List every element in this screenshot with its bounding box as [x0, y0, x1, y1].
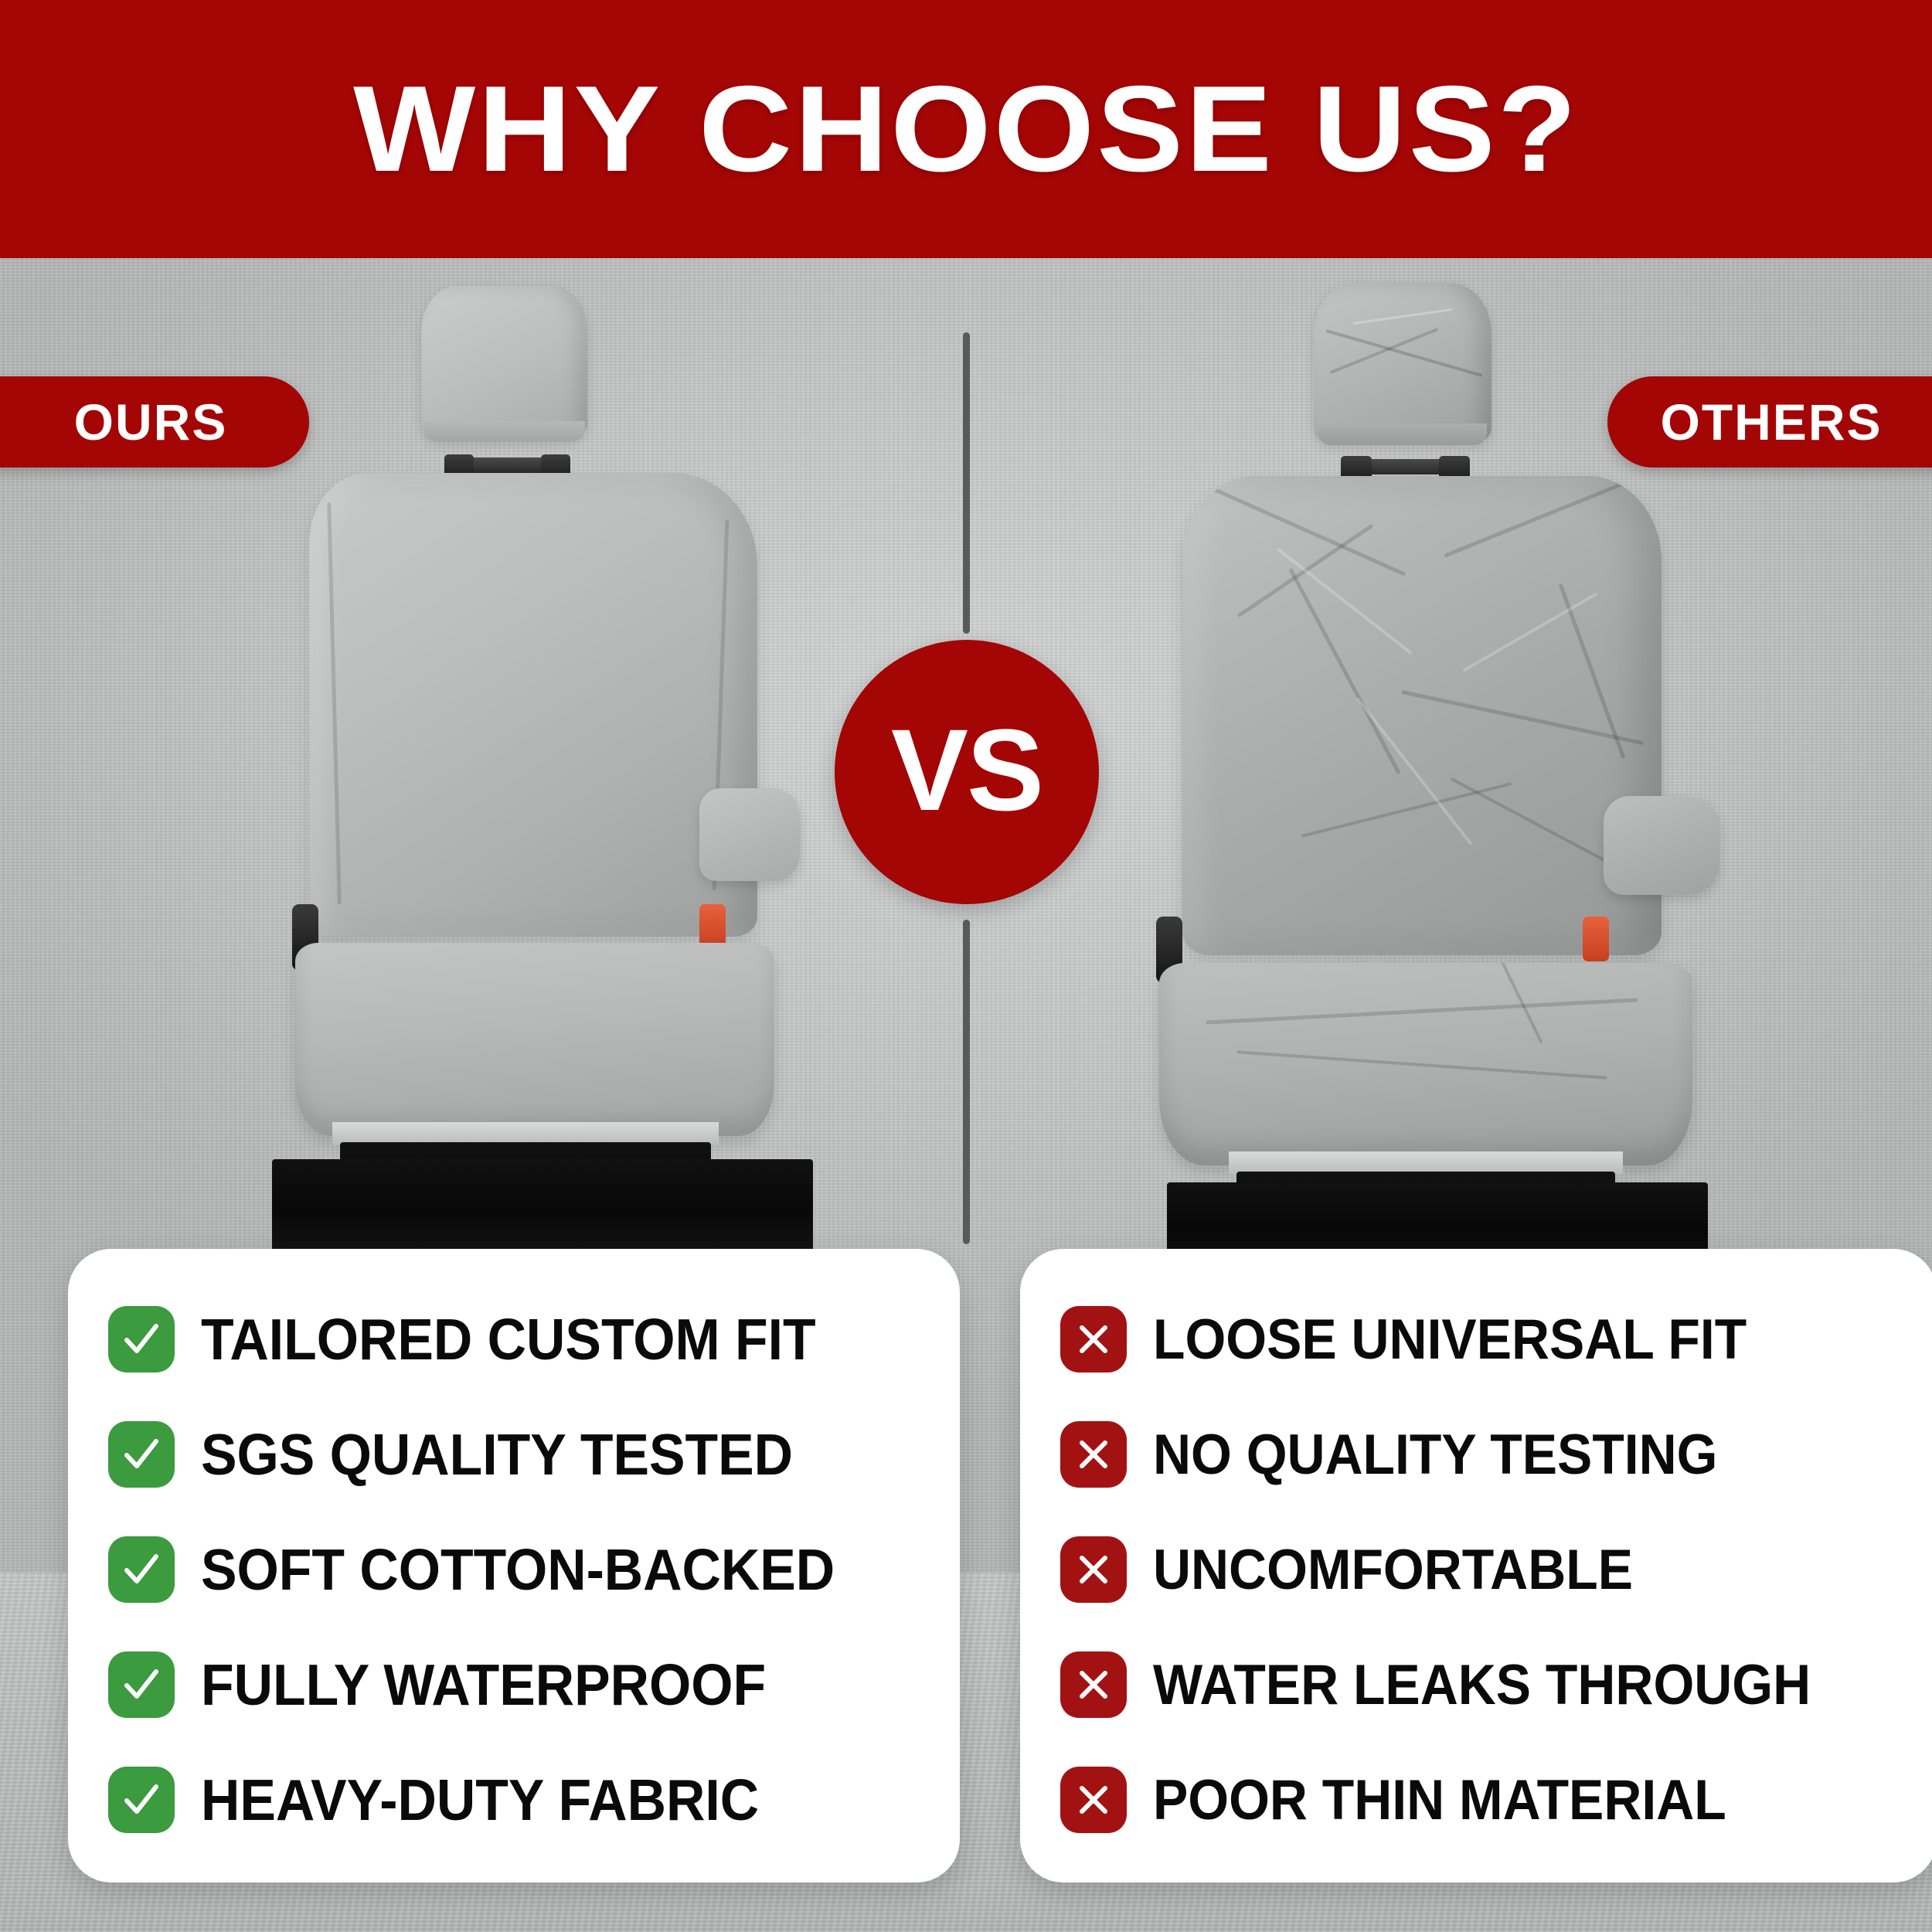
check-icon: [108, 1306, 175, 1372]
seat-wrinkle-highlight: [1356, 697, 1473, 845]
infographic-canvas: WHY CHOOSE US?: [0, 0, 1932, 1932]
divider-line-bottom: [963, 920, 970, 1244]
check-icon: [108, 1767, 175, 1833]
seat-belt-clip-others: [1583, 917, 1609, 961]
check-icon: [108, 1421, 175, 1488]
feature-card-others: LOOSE UNIVERSAL FIT NO QUALITY TESTING U…: [1020, 1249, 1932, 1883]
seat-wrinkle: [1301, 782, 1512, 838]
feature-label: POOR THIN MATERIAL: [1153, 1772, 1726, 1828]
feature-label: TAILORED CUSTOM FIT: [201, 1311, 816, 1369]
feature-row-others-1: LOOSE UNIVERSAL FIT: [1060, 1292, 1906, 1386]
badge-ours: OURS: [0, 376, 309, 468]
seat-wrinkle: [1236, 1050, 1607, 1079]
check-icon: [108, 1536, 175, 1603]
cross-icon: [1060, 1651, 1127, 1718]
seat-headrest-ours: [421, 286, 587, 440]
feature-row-others-2: NO QUALITY TESTING: [1060, 1407, 1906, 1502]
seat-headrest-band-ours: [423, 421, 585, 441]
seat-cushion-ours: [295, 943, 774, 1136]
feature-label: SOFT COTTON-BACKED: [201, 1541, 835, 1599]
feature-row-others-3: UNCOMFORTABLE: [1060, 1522, 1906, 1617]
divider-line-top: [963, 332, 970, 634]
seat-armrest-others: [1604, 796, 1719, 895]
vs-badge: VS: [835, 640, 1099, 904]
feature-row-ours-3: SOFT COTTON-BACKED: [108, 1522, 929, 1617]
cross-icon: [1060, 1306, 1127, 1372]
feature-row-ours-2: SGS QUALITY TESTED: [108, 1407, 929, 1502]
seat-headrest-band-others: [1318, 423, 1487, 445]
vs-label: VS: [891, 712, 1043, 828]
seat-headrest-others: [1314, 283, 1492, 444]
cross-icon: [1060, 1421, 1127, 1488]
feature-row-ours-4: FULLY WATERPROOF: [108, 1638, 929, 1732]
seat-backrest-others: [1182, 476, 1662, 955]
feature-row-ours-5: HEAVY-DUTY FABRIC: [108, 1753, 929, 1847]
badge-ours-label: OURS: [74, 393, 228, 451]
seat-wrinkle: [1214, 488, 1406, 576]
cross-icon: [1060, 1536, 1127, 1603]
seat-wrinkle: [1444, 481, 1624, 557]
feature-label: UNCOMFORTABLE: [1153, 1542, 1633, 1598]
seat-pedestal-base-ours: [272, 1159, 813, 1252]
feature-row-others-5: POOR THIN MATERIAL: [1060, 1753, 1906, 1847]
page-title: WHY CHOOSE US?: [353, 68, 1579, 190]
feature-label: SGS QUALITY TESTED: [201, 1426, 793, 1484]
feature-row-others-4: WATER LEAKS THROUGH: [1060, 1638, 1906, 1732]
seat-armrest-ours: [699, 788, 800, 881]
feature-label: WATER LEAKS THROUGH: [1153, 1657, 1811, 1713]
feature-label: LOOSE UNIVERSAL FIT: [1153, 1311, 1747, 1368]
seat-wrinkle-highlight: [1277, 548, 1413, 655]
badge-others-label: OTHERS: [1660, 393, 1882, 451]
seat-backrest-ours: [309, 473, 757, 937]
header-banner: WHY CHOOSE US?: [0, 0, 1932, 258]
cross-icon: [1060, 1767, 1127, 1833]
seat-wrinkle: [1206, 998, 1638, 1024]
badge-others: OTHERS: [1607, 376, 1932, 468]
feature-label: FULLY WATERPROOF: [201, 1656, 766, 1714]
feature-row-ours-1: TAILORED CUSTOM FIT: [108, 1292, 929, 1386]
check-icon: [108, 1651, 175, 1718]
feature-label: NO QUALITY TESTING: [1153, 1427, 1717, 1483]
seat-cushion-others: [1159, 963, 1692, 1165]
feature-card-ours: TAILORED CUSTOM FIT SGS QUALITY TESTED S…: [68, 1249, 960, 1883]
seat-headrest-bar-ours: [462, 457, 547, 473]
feature-label: HEAVY-DUTY FABRIC: [201, 1771, 759, 1829]
